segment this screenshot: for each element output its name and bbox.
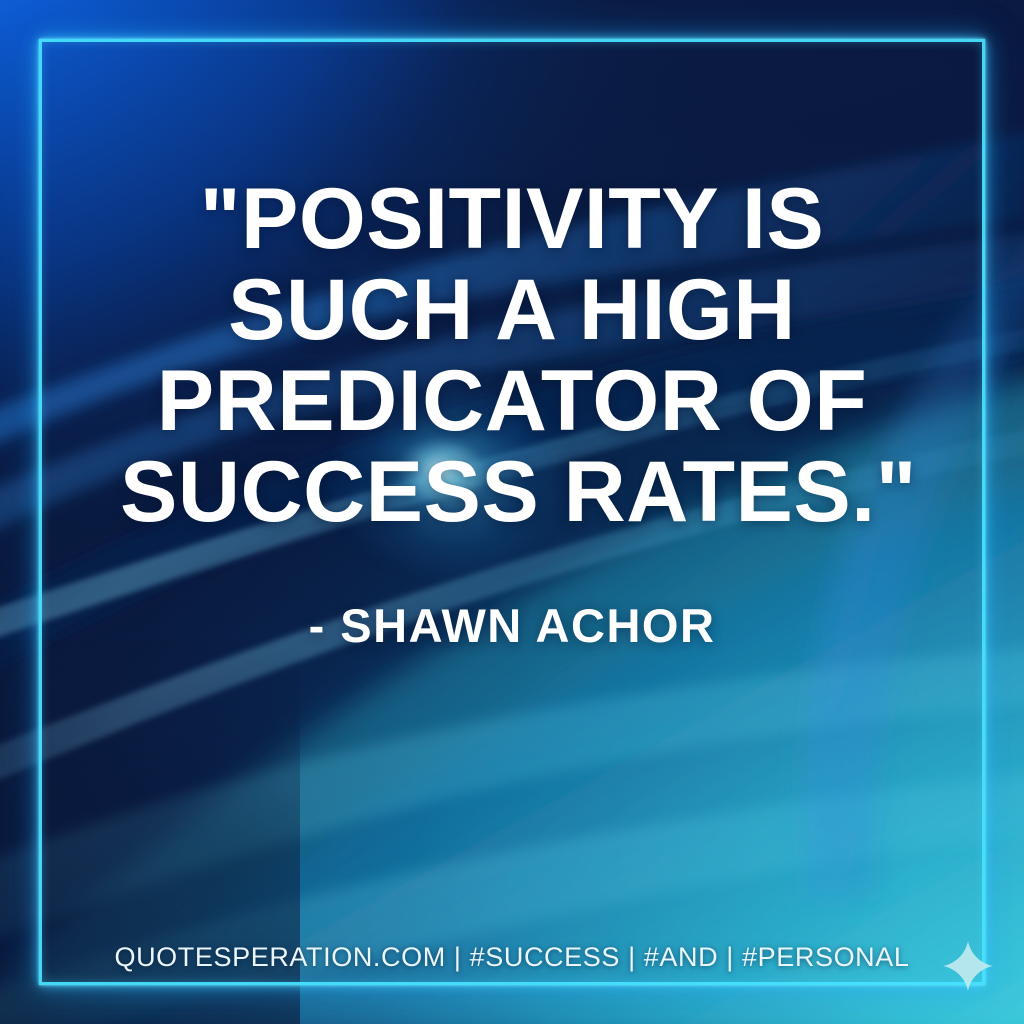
card-content: "POSITIVITY IS SUCH A HIGH PREDICATOR OF… [0,0,1024,1024]
quote-card-canvas: "POSITIVITY IS SUCH A HIGH PREDICATOR OF… [0,0,1024,1024]
quote-line-4: SUCCESS RATES." [120,447,904,538]
quote-attribution: - SHAWN ACHOR [0,598,1024,653]
quote-text: "POSITIVITY IS SUCH A HIGH PREDICATOR OF… [0,174,1024,538]
quote-line-1: "POSITIVITY IS [120,174,904,265]
footer-credit-line: QUOTESPERATION.COM | #SUCCESS | #AND | #… [0,942,1024,973]
quote-line-2: SUCH A HIGH [120,265,904,356]
quote-line-3: PREDICATOR OF [120,356,904,447]
